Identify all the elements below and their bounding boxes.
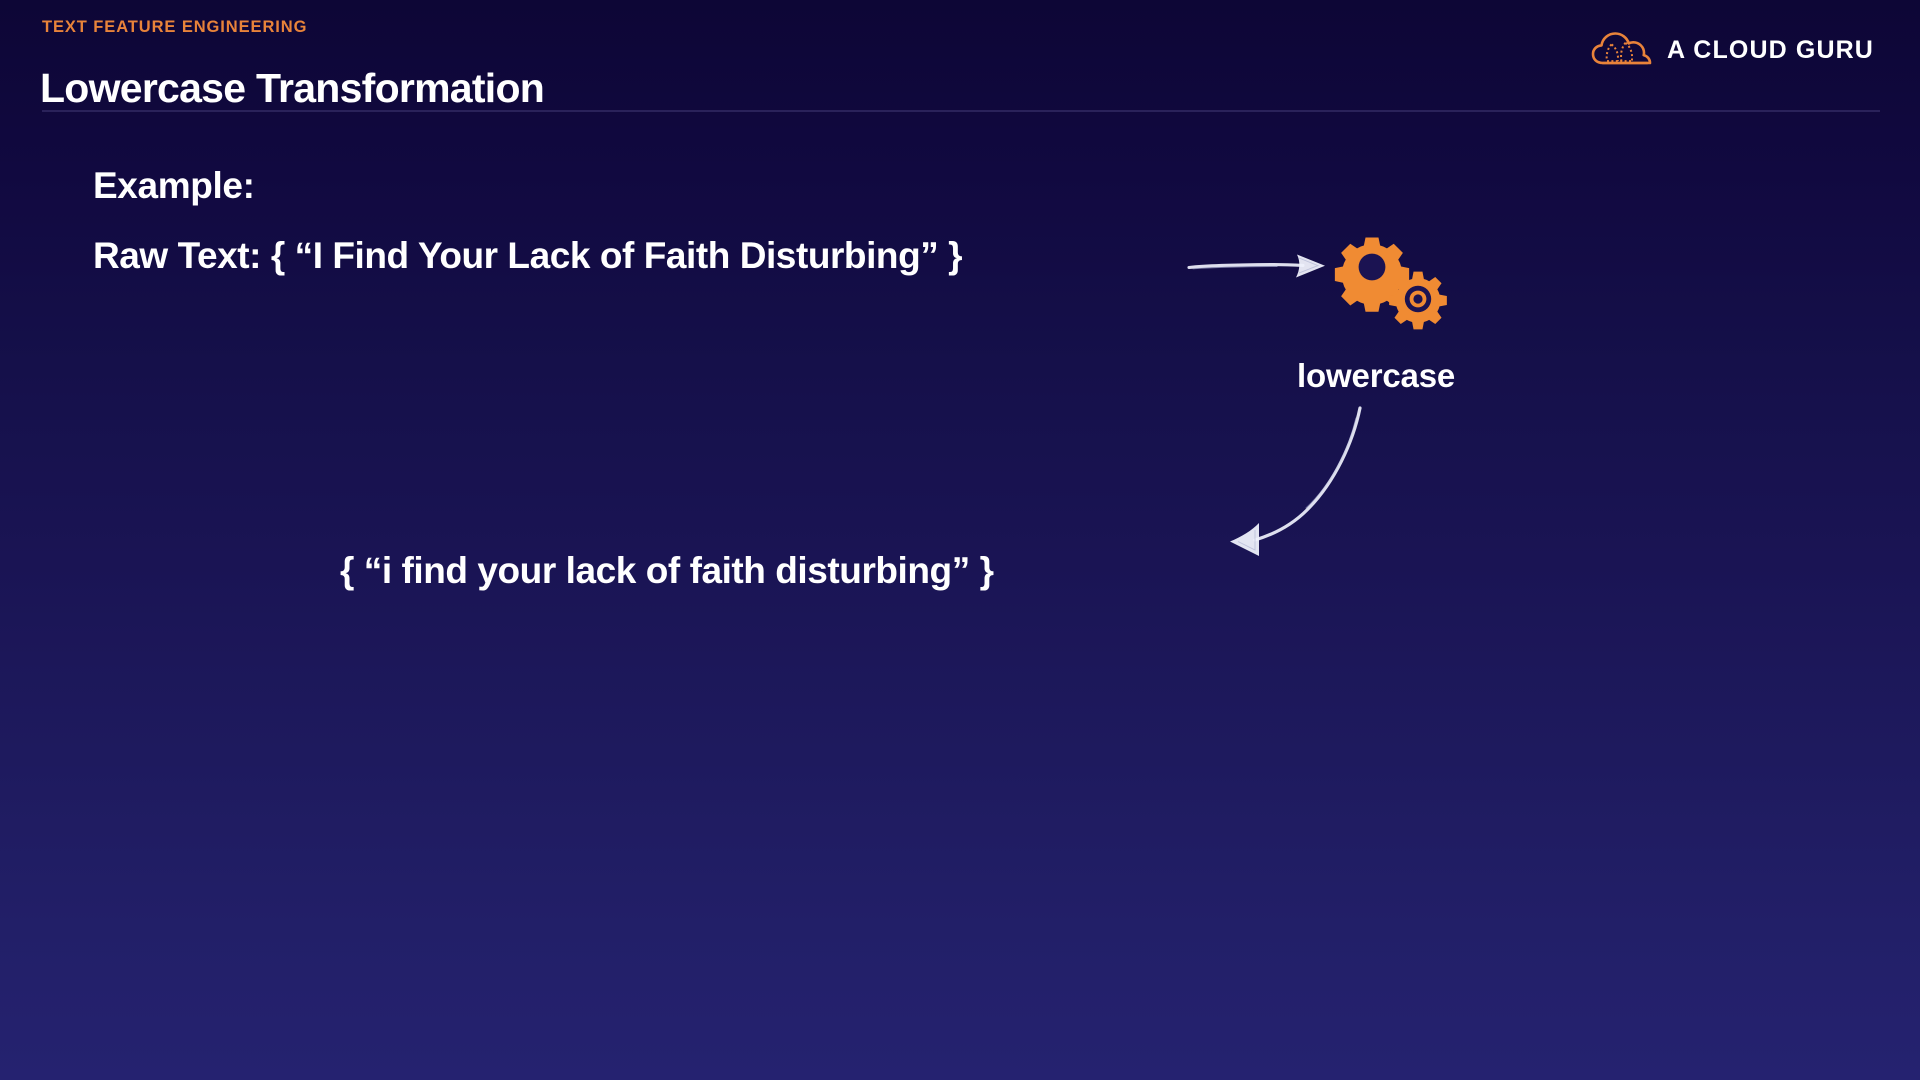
brand-lockup: A CLOUD GURU (1591, 30, 1874, 70)
cloud-logo-icon (1591, 30, 1653, 70)
header-divider (42, 110, 1880, 112)
page-title: Lowercase Transformation (40, 65, 544, 112)
brand-name: A CLOUD GURU (1667, 36, 1874, 65)
eyebrow-category-label: TEXT FEATURE ENGINEERING (42, 18, 307, 37)
result-text-line: { “i find your lack of faith disturbing”… (340, 550, 994, 592)
raw-text-line: Raw Text: { “I Find Your Lack of Faith D… (93, 235, 962, 277)
slide-header: TEXT FEATURE ENGINEERING Lowercase Trans… (0, 0, 1920, 110)
example-label: Example: (93, 165, 255, 207)
slide: TEXT FEATURE ENGINEERING Lowercase Trans… (0, 0, 1920, 1080)
operation-label: lowercase (1297, 357, 1455, 395)
